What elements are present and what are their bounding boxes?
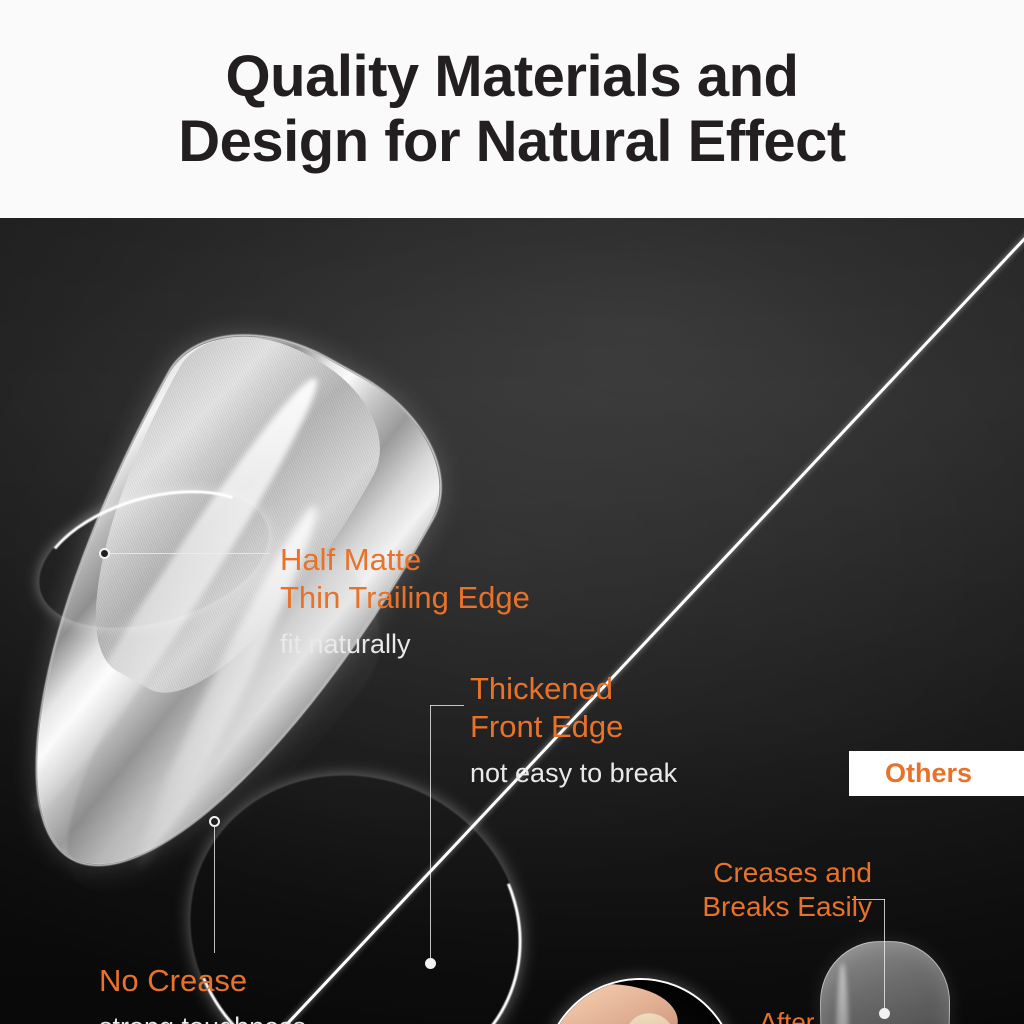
callout-thickened-front-edge: Thickened Front Edge not easy to break: [470, 670, 677, 791]
fingernail-upper: [625, 1009, 678, 1024]
callout-creases-title: Creases and Breaks Easily: [682, 856, 872, 925]
callout-no-crease-sub: strong toughness: [99, 1011, 306, 1024]
leader-line-half-matte: [110, 553, 270, 554]
callout-half-matte-sub: fit naturally: [280, 628, 530, 662]
leader-line-thickened-h: [430, 705, 464, 706]
product-infographic: Quality Materials and Design for Natural…: [0, 0, 1024, 1024]
callout-no-crease-title: No Crease: [99, 962, 306, 1000]
callout-after-bend: After Bend: [747, 1007, 827, 1024]
leader-dot-creases: [879, 1008, 890, 1019]
leader-dot-thickened: [425, 958, 436, 969]
leader-line-no-crease: [214, 827, 215, 953]
callout-thickened-title: Thickened Front Edge: [470, 670, 677, 746]
comparison-stage: Half Matte Thin Trailing Edge fit natura…: [0, 218, 1024, 1024]
page-title-line1: Quality Materials and: [226, 46, 799, 107]
header-banner: Quality Materials and Design for Natural…: [0, 0, 1024, 218]
callout-thickened-sub: not easy to break: [470, 757, 677, 791]
leader-dot-half-matte: [99, 548, 110, 559]
callout-no-crease: No Crease strong toughness: [99, 962, 306, 1024]
bent-tip-photo-inset: [543, 978, 737, 1024]
callout-half-matte-title: Half Matte Thin Trailing Edge: [280, 541, 530, 617]
leader-dot-no-crease: [209, 816, 220, 827]
callout-half-matte: Half Matte Thin Trailing Edge fit natura…: [280, 541, 530, 662]
leader-line-creases-v: [884, 899, 885, 1012]
callout-creases-breaks: Creases and Breaks Easily: [682, 856, 872, 925]
brand-badge-others: Others: [849, 751, 1024, 796]
callout-after-bend-title: After Bend: [747, 1007, 827, 1024]
leader-line-thickened-v: [430, 705, 431, 963]
page-title-line2: Design for Natural Effect: [178, 111, 846, 172]
